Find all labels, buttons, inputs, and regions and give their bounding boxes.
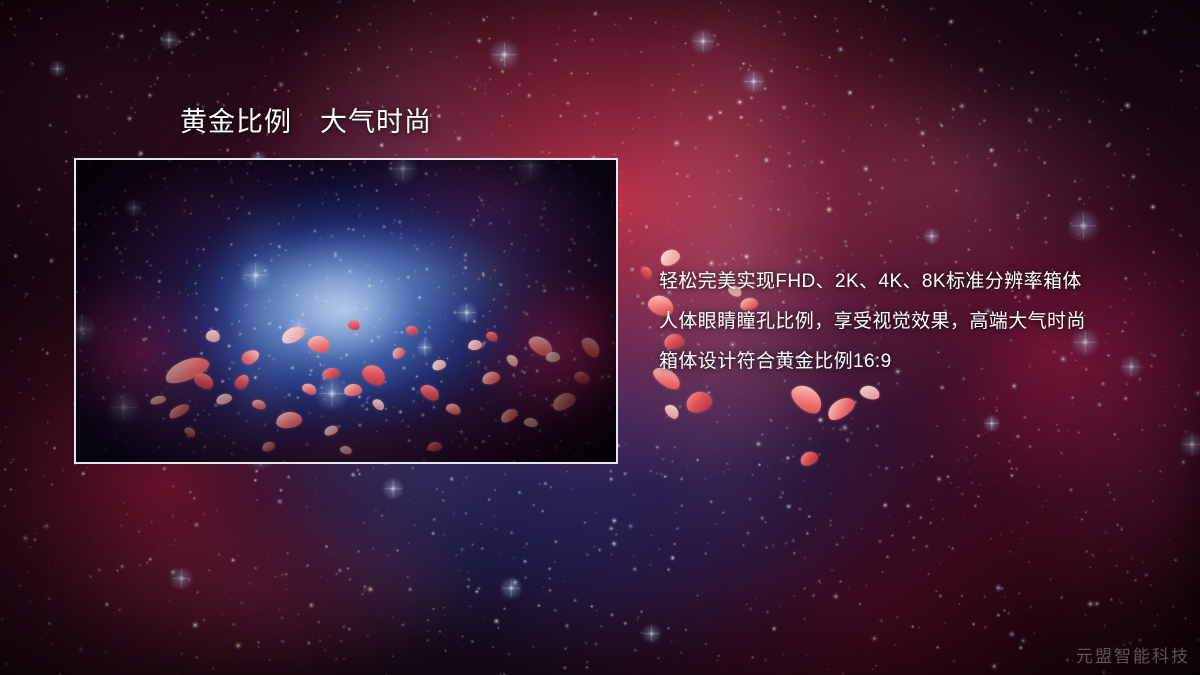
petal [859,383,882,401]
watermark: 元盟智能科技 [1076,642,1190,667]
petal [663,402,682,421]
display-preview-frame [74,158,618,464]
petal [798,449,820,468]
presentation-slide: 黄金比例 大气时尚 轻松完美实现FHD、2K、4K、8K标准分辨率箱体 人体眼睛… [0,0,1200,675]
preview-vignette [76,160,616,462]
preview-image [76,160,616,462]
petal [684,388,715,415]
petal [639,265,654,281]
petal [787,380,827,419]
body-line: 箱体设计符合黄金比例16:9 [659,342,1159,382]
body-line: 人体眼睛瞳孔比例，享受视觉效果，高端大气时尚 [659,302,1159,342]
body-text-block: 轻松完美实现FHD、2K、4K、8K标准分辨率箱体 人体眼睛瞳孔比例，享受视觉效… [659,262,1159,382]
body-line: 轻松完美实现FHD、2K、4K、8K标准分辨率箱体 [659,262,1159,302]
page-title: 黄金比例 大气时尚 [180,100,432,139]
petal [824,393,858,424]
